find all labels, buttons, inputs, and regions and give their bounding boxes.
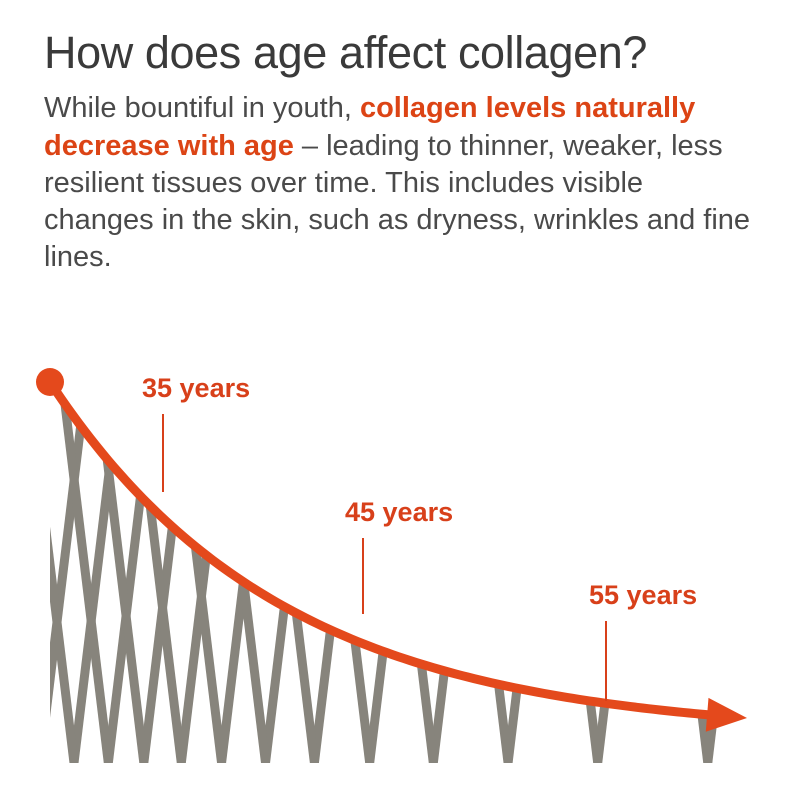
age-annotations: 35 years45 years55 years — [142, 373, 697, 701]
collagen-fiber — [62, 382, 108, 763]
collagen-fiber — [222, 382, 268, 763]
intro-text-block: How does age affect collagen? While boun… — [44, 28, 760, 276]
intro-text-lead: While bountiful in youth, — [44, 92, 360, 124]
collagen-fiber — [0, 382, 40, 763]
collagen-fiber — [28, 382, 74, 763]
collagen-fiber — [266, 382, 312, 763]
collagen-age-infographic: How does age affect collagen? While boun… — [0, 0, 800, 800]
collagen-fiber — [40, 382, 86, 763]
collagen-fiber — [552, 382, 598, 763]
collagen-fiber — [108, 382, 154, 763]
start-dot-marker — [36, 368, 64, 396]
collagen-fiber — [598, 382, 644, 763]
collagen-fiber-mesh — [0, 382, 754, 763]
collagen-fiber — [220, 382, 266, 763]
collagen-fiber — [433, 382, 479, 763]
collagen-fiber — [135, 382, 181, 763]
collagen-fiber — [708, 382, 754, 763]
collagen-fiber — [144, 382, 190, 763]
intro-paragraph: While bountiful in youth, collagen level… — [44, 90, 760, 276]
collagen-fiber — [662, 382, 708, 763]
age-annotation-label-45: 45 years — [345, 497, 453, 527]
age-annotation-label-55: 55 years — [589, 580, 697, 610]
collagen-decay-curve — [50, 382, 712, 715]
collagen-fiber — [370, 382, 416, 763]
collagen-fiber — [181, 382, 227, 763]
collagen-fiber — [508, 382, 554, 763]
collagen-fiber — [268, 382, 314, 763]
page-title: How does age affect collagen? — [44, 28, 760, 78]
collagen-fiber — [324, 382, 370, 763]
collagen-fiber — [462, 382, 508, 763]
arrowhead-icon — [706, 698, 747, 732]
collagen-fiber — [74, 382, 120, 763]
collagen-fiber — [387, 382, 433, 763]
collagen-fiber — [314, 382, 360, 763]
collagen-fiber — [176, 382, 222, 763]
age-annotation-label-35: 35 years — [142, 373, 250, 403]
collagen-fiber — [98, 382, 144, 763]
